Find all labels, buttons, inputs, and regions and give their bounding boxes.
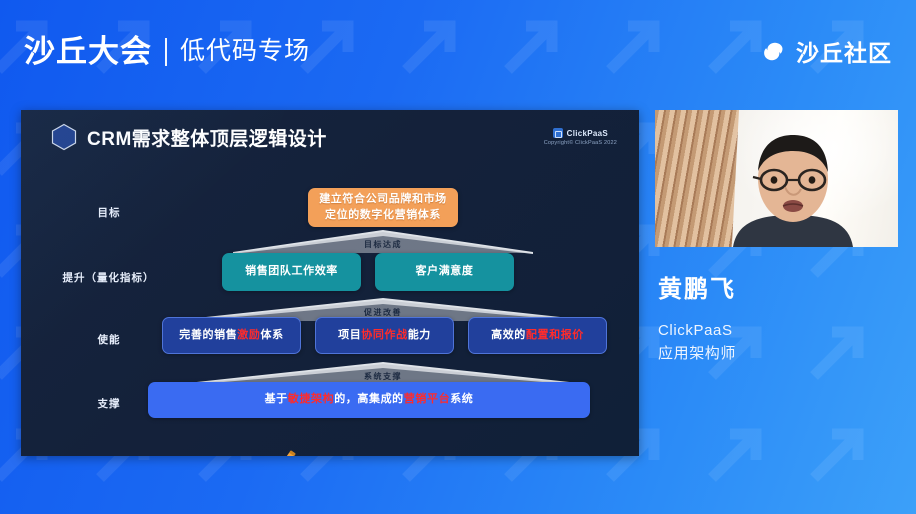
clickpaas-name: ClickPaaS [567,129,608,138]
enable-box-incentive-highlight: 激励 [237,328,260,344]
hexagon-icon [51,123,77,151]
enable-box-incentive-pre: 完善的销售 [179,328,237,344]
enable-box-incentive[interactable]: 完善的销售激励体系 [162,317,301,354]
speaker-name: 黄鹏飞 [658,278,736,302]
slide-title: CRM需求整体顶层逻辑设计 [87,124,327,151]
community-logo-text: 沙丘社区 [796,42,892,65]
connector-system-support-label: 系统支撑 [178,371,588,382]
connector-goal-achieved: 目标达成 [233,230,533,254]
support-box-highlight-platform: 营销平台 [404,392,450,408]
support-box-highlight-architecture: 敏捷架构 [288,392,334,408]
brand-divider [165,38,167,66]
sandhill-s-logo-icon [760,40,787,67]
support-box-mid: 的，高集成的 [334,392,404,408]
enable-box-collaboration[interactable]: 项目协同作战能力 [315,317,454,354]
enable-box-cpq-highlight: 配置和报价 [526,328,584,344]
metric-box-sales-efficiency[interactable]: 销售团队工作效率 [222,253,361,291]
enable-box-collaboration-highlight: 协同作战 [361,328,407,344]
improve-row: 销售团队工作效率 客户满意度 [222,253,514,291]
row-label-improve: 提升（量化指标） [41,270,176,285]
goal-row: 建立符合公司品牌和市场定位的数字化营销体系 [308,188,458,227]
support-row: 基于敏捷架构的，高集成的营销平台系统 [148,382,590,418]
speaker-role: 应用架构师 [658,343,736,366]
event-brand-subtitle: 低代码专场 [180,39,310,64]
enable-box-incentive-post: 体系 [261,328,284,344]
slide-watermark: ClickPaaS Copyright© ClickPaaS 2022 [544,128,617,146]
clickpaas-logo-icon [553,128,563,138]
event-brand-main: 沙丘大会 [24,36,152,67]
pencil-highlighter-icon [274,448,300,456]
clickpaas-copyright: Copyright© ClickPaaS 2022 [544,140,617,146]
row-label-goal: 目标 [49,205,169,220]
webcam-person [727,127,859,247]
speaker-company: ClickPaaS [658,320,736,343]
screen: 沙丘大会 低代码专场 沙丘社区 CRM需求整体顶层逻辑设计 [0,0,916,514]
page-header: 沙丘大会 低代码专场 沙丘社区 [0,0,916,103]
metric-box-customer-satisfaction[interactable]: 客户满意度 [375,253,514,291]
presentation-slide[interactable]: CRM需求整体顶层逻辑设计 ClickPaaS Copyright© Click… [21,110,639,456]
row-label-enable: 使能 [49,332,169,347]
enable-box-cpq[interactable]: 高效的配置和报价 [468,317,607,354]
enable-box-cpq-pre: 高效的 [491,328,526,344]
slide-title-row: CRM需求整体顶层逻辑设计 [51,123,327,151]
community-logo: 沙丘社区 [760,40,892,67]
enable-box-collaboration-pre: 项目 [338,328,361,344]
support-box-post: 系统 [450,392,473,408]
speaker-webcam[interactable] [655,110,898,247]
goal-box[interactable]: 建立符合公司品牌和市场定位的数字化营销体系 [308,188,458,227]
speaker-info: 黄鹏飞 ClickPaaS 应用架构师 [658,278,736,365]
connector-goal-achieved-label: 目标达成 [233,239,533,250]
support-box-platform[interactable]: 基于敏捷架构的，高集成的营销平台系统 [148,382,590,418]
support-box-pre: 基于 [265,392,288,408]
enable-row: 完善的销售激励体系 项目协同作战能力 高效的配置和报价 [162,317,607,354]
enable-box-collaboration-post: 能力 [408,328,431,344]
event-brand: 沙丘大会 低代码专场 [24,36,310,67]
